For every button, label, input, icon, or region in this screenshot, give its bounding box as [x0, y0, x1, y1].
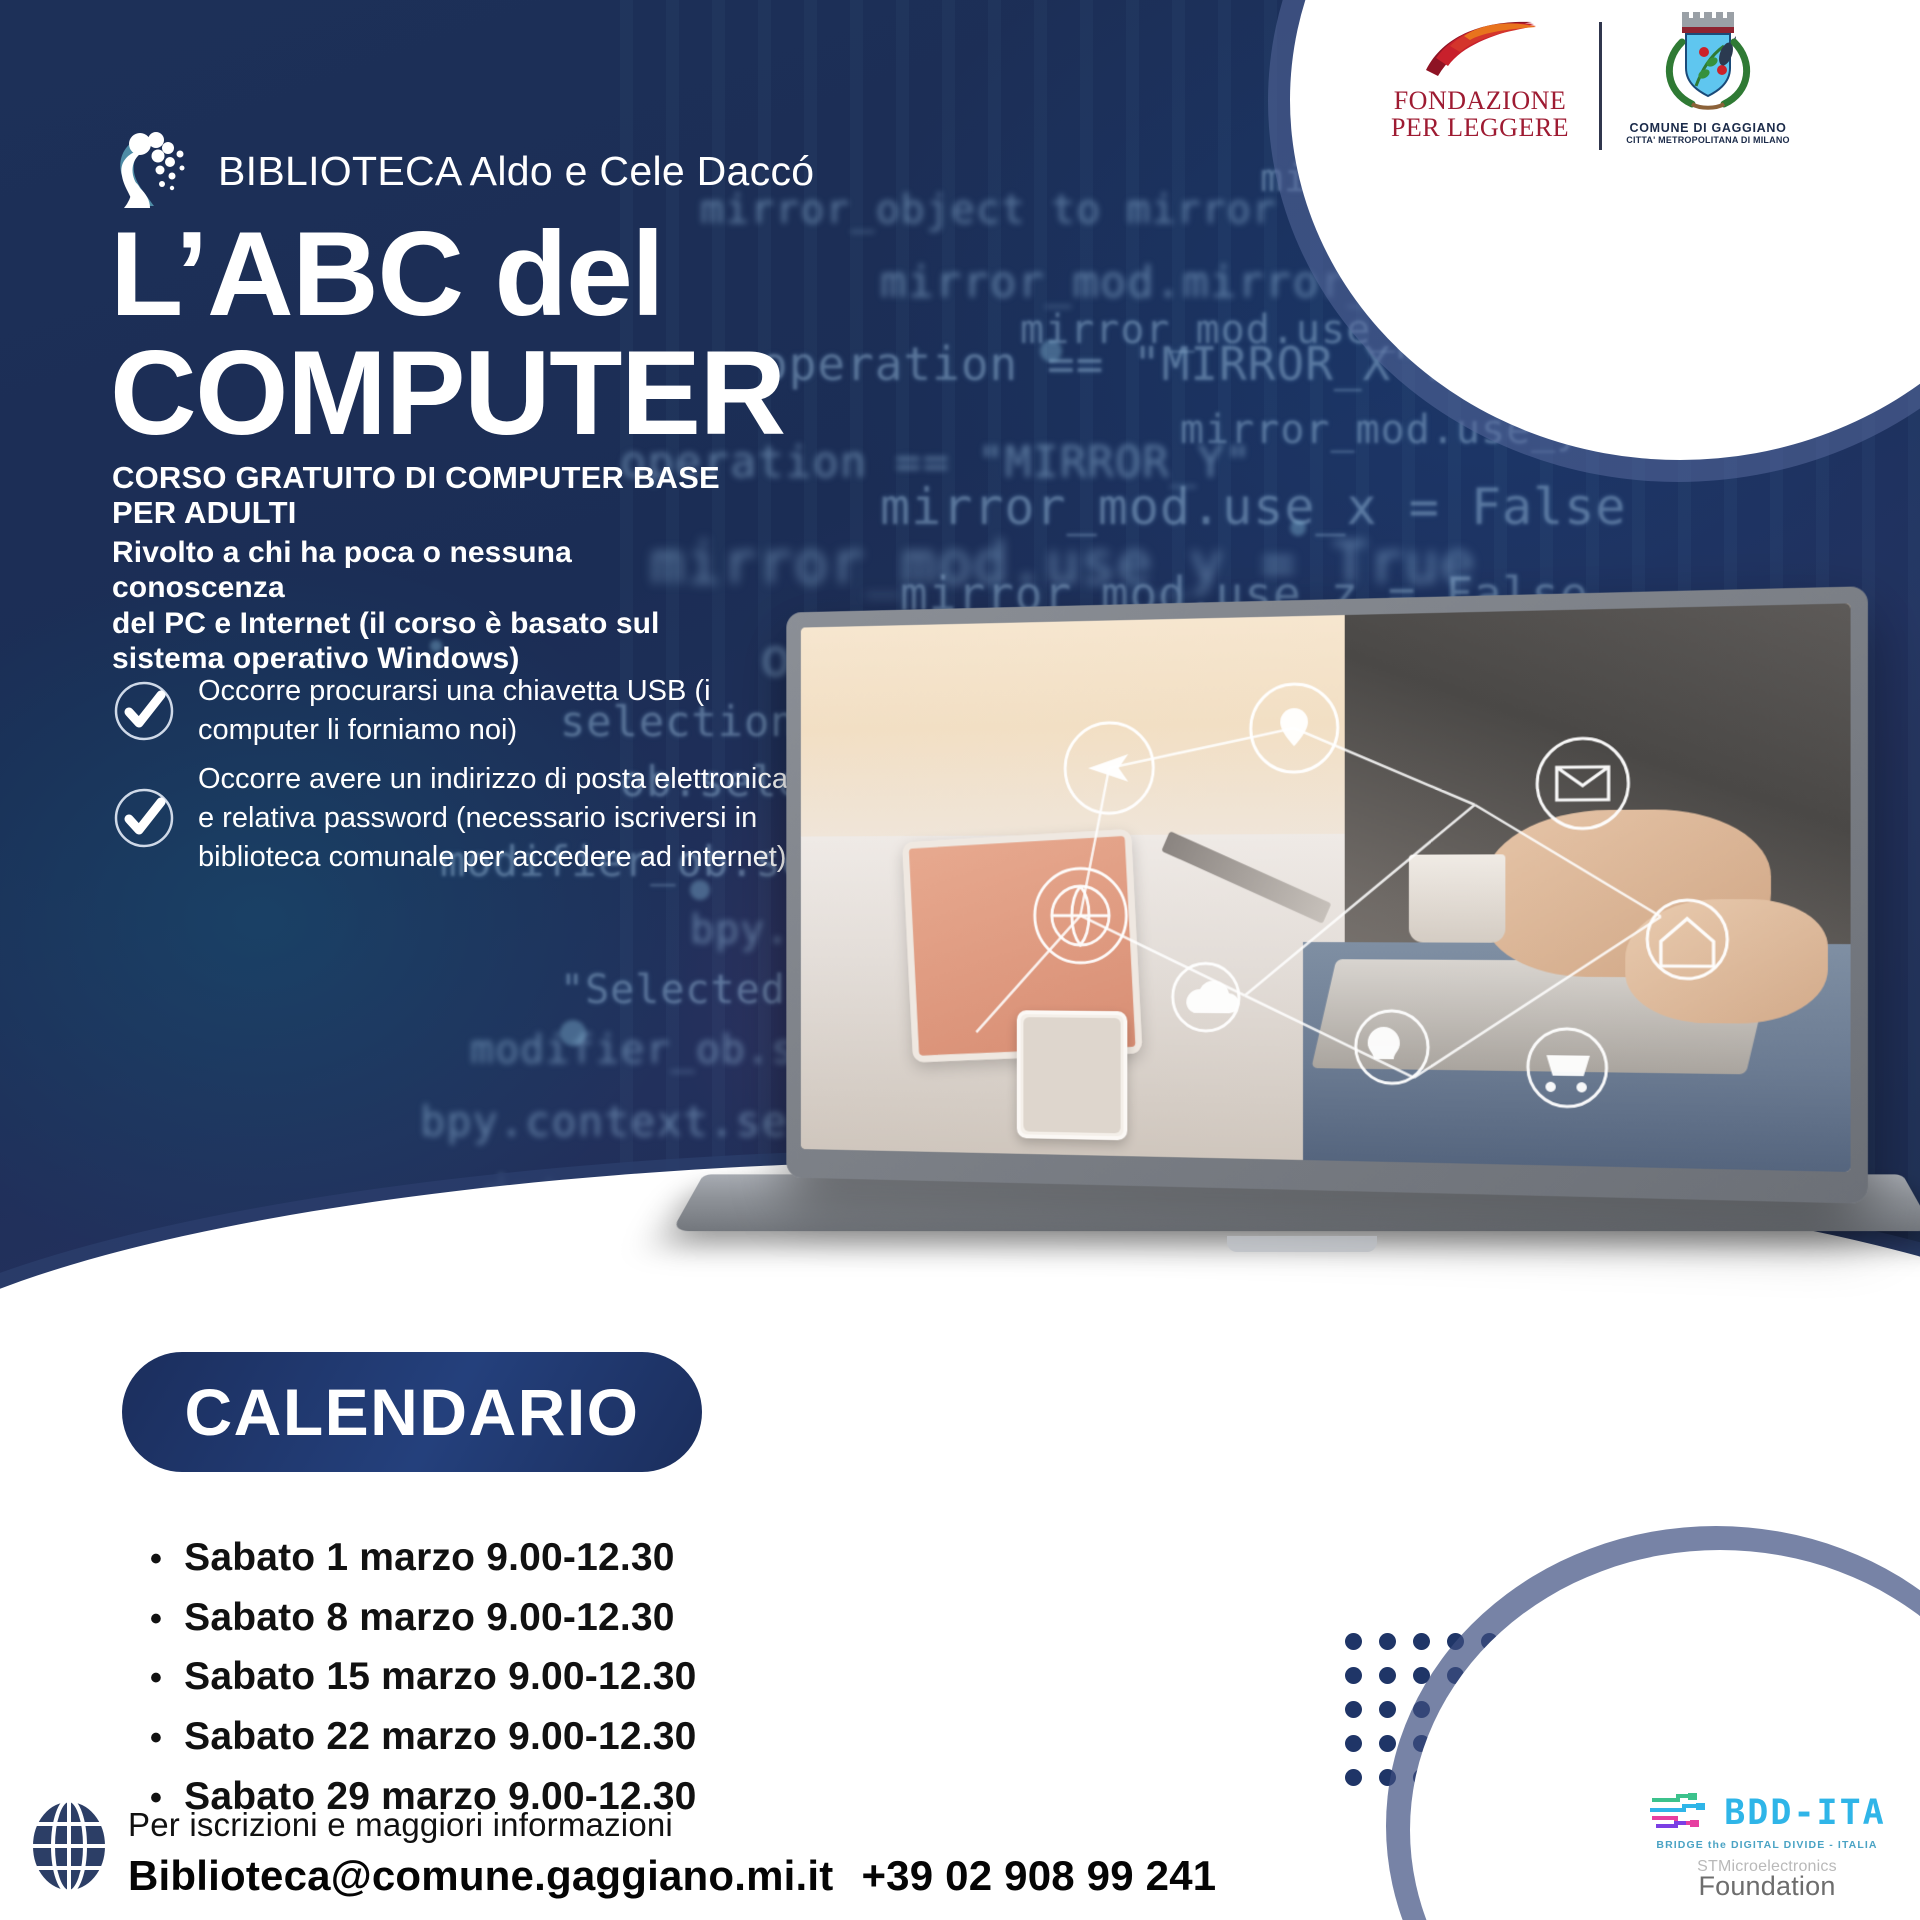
calendar-badge-label: CALENDARIO [185, 1374, 640, 1450]
stmicroelectronics-foundation-logo: STMicroelectronics Foundation [1632, 1858, 1902, 1902]
lead-paragraph: Rivolto a chi ha poca o nessuna conoscen… [112, 535, 712, 677]
contact-email[interactable]: Biblioteca@comune.gaggiano.mi.it [128, 1852, 833, 1899]
comune-line1: COMUNE DI GAGGIANO [1608, 121, 1808, 135]
fondazione-per-leggere-logo: FONDAZIONE PER LEGGERE [1390, 18, 1570, 141]
title-line-1: L’ABC del [110, 207, 663, 341]
calendar-list: •Sabato 1 marzo 9.00-12.30 •Sabato 8 mar… [150, 1528, 697, 1826]
calendar-item-text: Sabato 15 marzo 9.00-12.30 [184, 1647, 696, 1707]
bdd-circuit-icon [1648, 1790, 1718, 1837]
poster-root: mirror_object to mirror mirror_mod.mirro… [0, 0, 1920, 1920]
foundation-line2: PER LEGGERE [1390, 115, 1570, 142]
sponsor-tagline: BRIDGE the DIGITAL DIVIDE - ITALIA [1632, 1839, 1902, 1851]
page-title: L’ABC del COMPUTER [110, 215, 785, 453]
title-line-2: COMPUTER [110, 334, 785, 453]
laptop-notch [1227, 1236, 1377, 1252]
bdd-logo-row: BDD-ITA [1632, 1790, 1902, 1837]
laptop-lid [786, 586, 1868, 1204]
bullet-icon: • [150, 1602, 162, 1636]
logo-divider [1599, 22, 1602, 150]
calendar-badge: CALENDARIO [122, 1352, 702, 1472]
gaggiano-coat-of-arms-icon [1652, 8, 1764, 120]
contact-details: Biblioteca@comune.gaggiano.mi.it+39 02 9… [128, 1852, 1216, 1900]
sponsor-logo: BDD-ITA BRIDGE the DIGITAL DIVIDE - ITAL… [1632, 1790, 1902, 1902]
bokeh-dot [1040, 340, 1062, 362]
library-head-dots-logo-icon [110, 128, 196, 214]
library-name: BIBLIOTECA Aldo e Cele Daccó [218, 148, 814, 195]
library-header: BIBLIOTECA Aldo e Cele Daccó [110, 128, 814, 214]
sponsor-name: BDD-ITA [1724, 1796, 1886, 1831]
list-item: •Sabato 15 marzo 9.00-12.30 [150, 1647, 697, 1707]
list-item: •Sabato 1 marzo 9.00-12.30 [150, 1528, 697, 1588]
subtitle: CORSO GRATUITO DI COMPUTER BASE PER ADUL… [112, 460, 752, 531]
check-circle-icon [112, 786, 176, 850]
list-item: •Sabato 22 marzo 9.00-12.30 [150, 1707, 697, 1767]
foundation-line1: FONDAZIONE [1390, 88, 1570, 115]
comune-di-gaggiano-logo: COMUNE DI GAGGIANO CITTA' METROPOLITANA … [1608, 8, 1808, 145]
list-item: •Sabato 8 marzo 9.00-12.30 [150, 1588, 697, 1648]
laptop-screen-image [801, 603, 1851, 1172]
contact-intro: Per iscrizioni e maggiori informazioni [128, 1806, 673, 1844]
sponsor-org-line2: Foundation [1632, 1871, 1902, 1902]
check-circle-icon [112, 679, 176, 743]
calendar-item-text: Sabato 22 marzo 9.00-12.30 [184, 1707, 696, 1767]
bokeh-dot [560, 1020, 586, 1046]
photo-icon-network-overlay [801, 603, 1851, 1172]
contact-phone[interactable]: +39 02 908 99 241 [861, 1852, 1216, 1899]
comune-line2: CITTA' METROPOLITANA DI MILANO [1608, 135, 1808, 145]
bullet-icon: • [150, 1542, 162, 1576]
bullet-icon: • [150, 1721, 162, 1755]
bokeh-dot [1290, 520, 1306, 536]
laptop-photo [672, 600, 1920, 1320]
calendar-item-text: Sabato 1 marzo 9.00-12.30 [184, 1528, 675, 1588]
envelope-icon [1537, 738, 1628, 829]
fondazione-per-leggere-swoosh-icon [1420, 18, 1540, 84]
bullet-icon: • [150, 1661, 162, 1695]
calendar-item-text: Sabato 8 marzo 9.00-12.30 [184, 1588, 675, 1648]
globe-icon [28, 1798, 110, 1894]
